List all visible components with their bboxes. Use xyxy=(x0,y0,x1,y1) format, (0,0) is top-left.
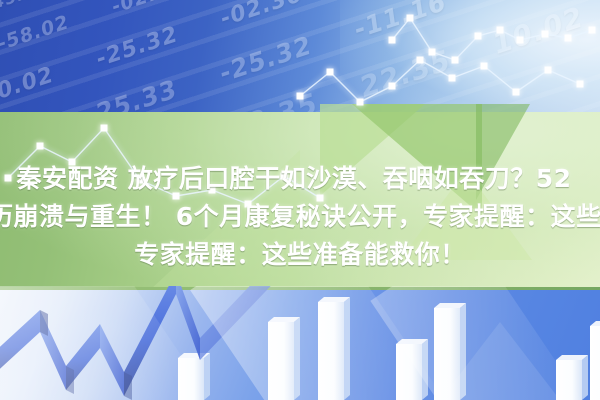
promo-banner: -02.3621.3645.024.36-11.2521.36-58.02-02… xyxy=(0,0,600,400)
bottom-chart-art xyxy=(0,286,600,400)
headline-line-3: 专家提醒：这些准备能救你！ xyxy=(0,236,600,274)
headline-line-2: 历崩溃与重生！ 6个月康复秘诀公开，专家提醒：这些 xyxy=(0,198,588,236)
headline-block: 秦安配资 放疗后口腔干如沙漠、吞咽如吞刀？52 历崩溃与重生！ 6个月康复秘诀公… xyxy=(0,160,600,274)
bar-column xyxy=(590,326,600,400)
top-light-blob xyxy=(340,0,600,113)
bar-column-side xyxy=(582,355,588,400)
headline-line-1: 秦安配资 放疗后口腔干如沙漠、吞咽如吞刀？52 xyxy=(0,160,594,198)
bar-column-top xyxy=(590,321,600,326)
